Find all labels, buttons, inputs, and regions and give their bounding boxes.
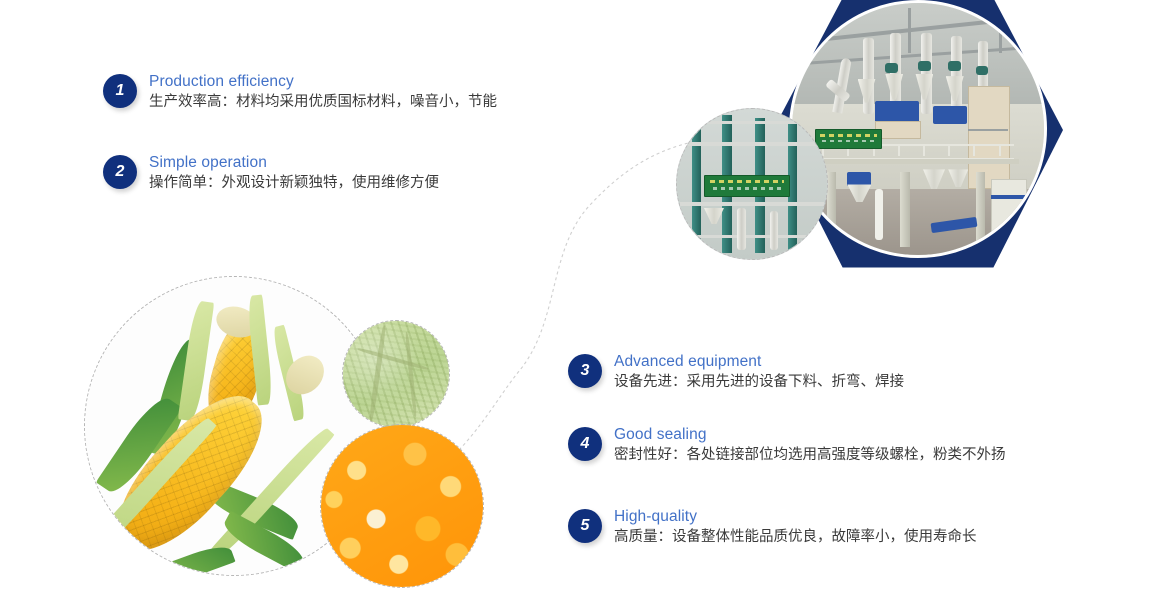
factory-photo [789, 0, 1047, 258]
corn-media-group [84, 276, 504, 591]
feature-description: 密封性好：各处链接部位均选用高强度等级螺栓，粉类不外扬 [614, 445, 1006, 466]
feature-number-badge: 4 [568, 427, 602, 461]
grits-photo [320, 424, 484, 588]
small-factory-photo [676, 108, 828, 260]
feature-description: 高质量：设备整体性能品质优良，故障率小，使用寿命长 [614, 527, 977, 548]
feature-number-badge: 1 [103, 74, 137, 108]
feature-description: 设备先进：采用先进的设备下料、折弯、焊接 [614, 372, 904, 393]
feature-item-1: 1 Production efficiency 生产效率高：材料均采用优质国标材… [103, 72, 497, 113]
feature-title: Advanced equipment [614, 352, 904, 371]
feature-title: Simple operation [149, 153, 439, 172]
feature-item-5: 5 High-quality 高质量：设备整体性能品质优良，故障率小，使用寿命长 [568, 507, 977, 548]
feature-item-3: 3 Advanced equipment 设备先进：采用先进的设备下料、折弯、焊… [568, 352, 904, 393]
feature-number-badge: 3 [568, 354, 602, 388]
feature-number-badge: 5 [568, 509, 602, 543]
feature-showcase-page: 1 Production efficiency 生产效率高：材料均采用优质国标材… [0, 0, 1154, 591]
green-paste-photo [342, 320, 450, 428]
feature-description: 生产效率高：材料均采用优质国标材料，噪音小，节能 [149, 92, 497, 113]
feature-title: Production efficiency [149, 72, 497, 91]
feature-title: High-quality [614, 507, 977, 526]
feature-description: 操作简单：外观设计新颖独特，使用维修方便 [149, 173, 439, 194]
feature-number-badge: 2 [103, 155, 137, 189]
feature-item-4: 4 Good sealing 密封性好：各处链接部位均选用高强度等级螺栓，粉类不… [568, 425, 1006, 466]
feature-title: Good sealing [614, 425, 1006, 444]
small-factory-banner [704, 175, 790, 197]
feature-item-2: 2 Simple operation 操作简单：外观设计新颖独特，使用维修方便 [103, 153, 439, 194]
